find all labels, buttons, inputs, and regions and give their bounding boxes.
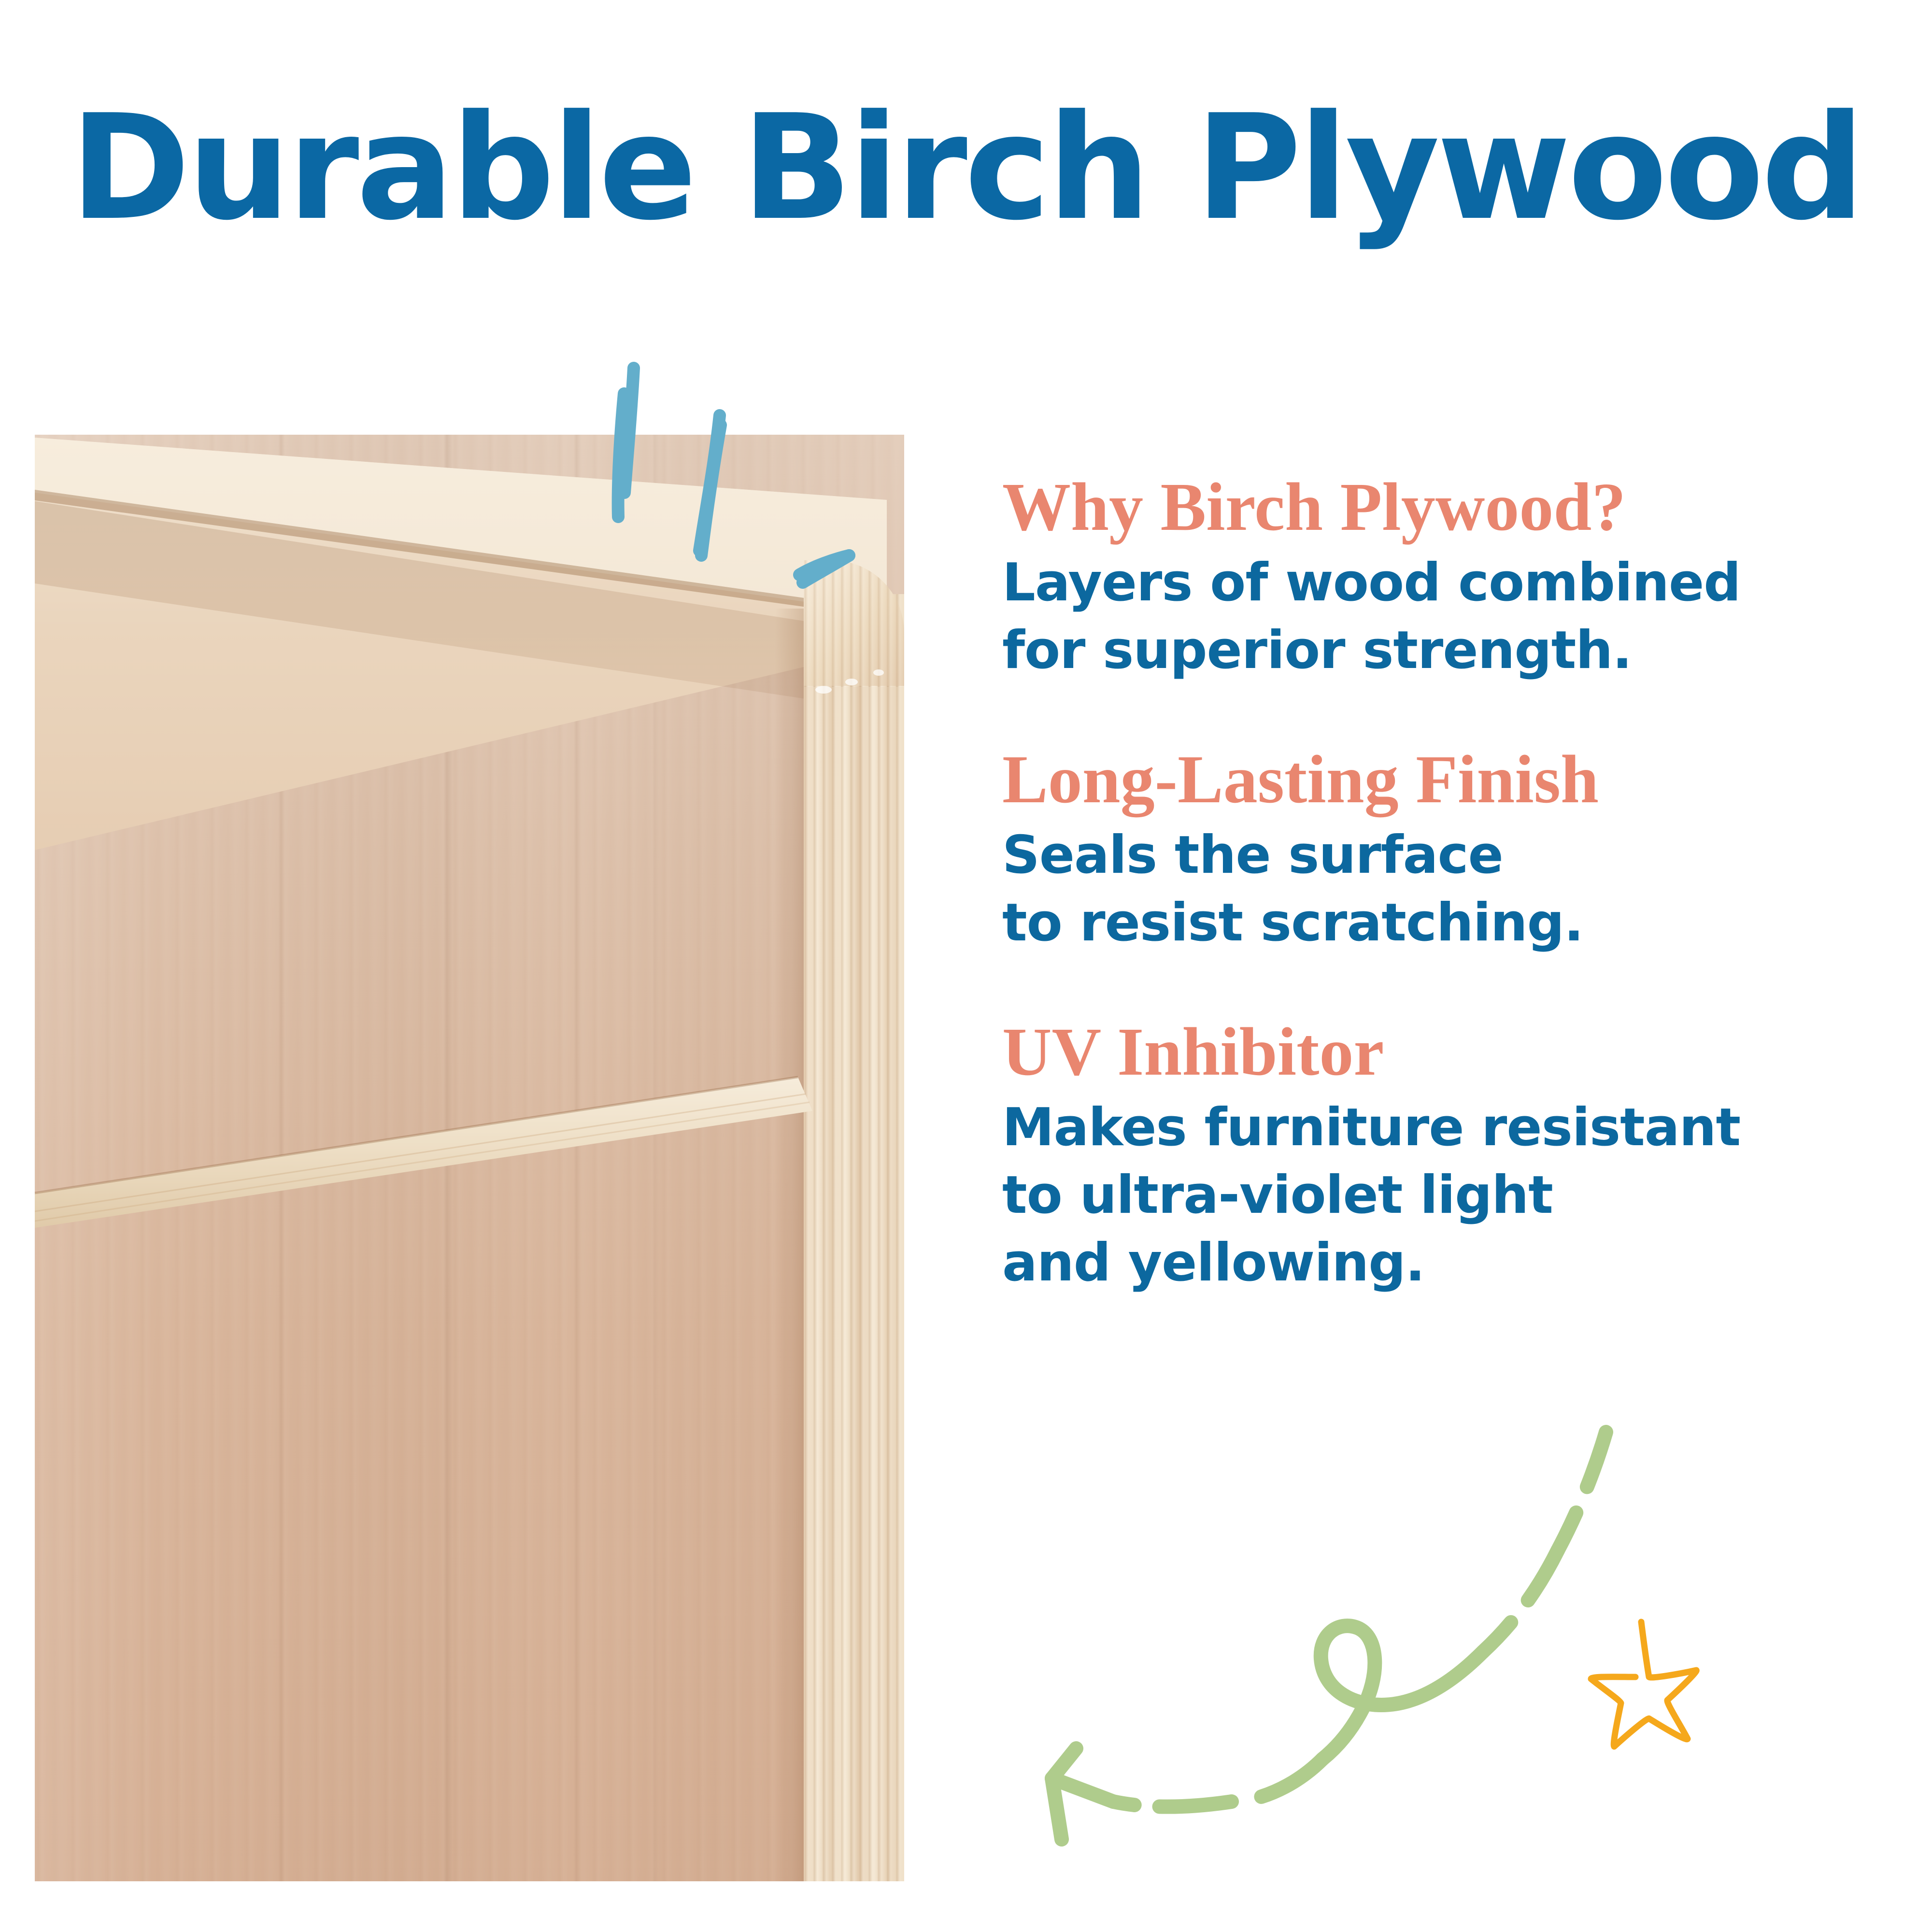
- feature-body-line: to ultra-violet light: [1002, 1162, 1843, 1229]
- infographic-canvas: Durable Birch Plywood: [0, 0, 1932, 1932]
- feature-body-line: Layers of wood combined: [1002, 549, 1843, 617]
- feature-body-line: and yellowing.: [1002, 1229, 1843, 1297]
- sparkle-lines-icon: [570, 348, 898, 618]
- gloss-highlight: [815, 686, 832, 694]
- star-outline-icon: [1584, 1604, 1748, 1768]
- feature-body: Makes furniture resistant to ultra-viole…: [1002, 1094, 1843, 1297]
- feature-body-line: to resist scratching.: [1002, 889, 1843, 957]
- feature-body-line: Seals the surface: [1002, 822, 1843, 889]
- feature-body: Seals the surface to resist scratching.: [1002, 822, 1843, 957]
- feature-body: Layers of wood combined for superior str…: [1002, 549, 1843, 685]
- page-title: Durable Birch Plywood: [0, 96, 1932, 241]
- curved-arrow-icon: [990, 1415, 1628, 1850]
- shelf-front-lip: [35, 1048, 904, 1251]
- gloss-highlight: [873, 669, 884, 676]
- feature-block: UV Inhibitor Makes furniture resistant t…: [1002, 1013, 1843, 1297]
- feature-heading: Why Birch Plywood?: [1002, 469, 1843, 545]
- feature-heading: Long-Lasting Finish: [1002, 741, 1843, 818]
- feature-body-line: for superior strength.: [1002, 617, 1843, 684]
- feature-body-line: Makes furniture resistant: [1002, 1094, 1843, 1162]
- feature-heading: UV Inhibitor: [1002, 1013, 1843, 1090]
- feature-list: Why Birch Plywood? Layers of wood combin…: [1002, 469, 1843, 1297]
- gloss-highlight: [845, 679, 858, 685]
- feature-block: Why Birch Plywood? Layers of wood combin…: [1002, 469, 1843, 685]
- feature-block: Long-Lasting Finish Seals the surface to…: [1002, 741, 1843, 957]
- plywood-photo: [35, 435, 904, 1881]
